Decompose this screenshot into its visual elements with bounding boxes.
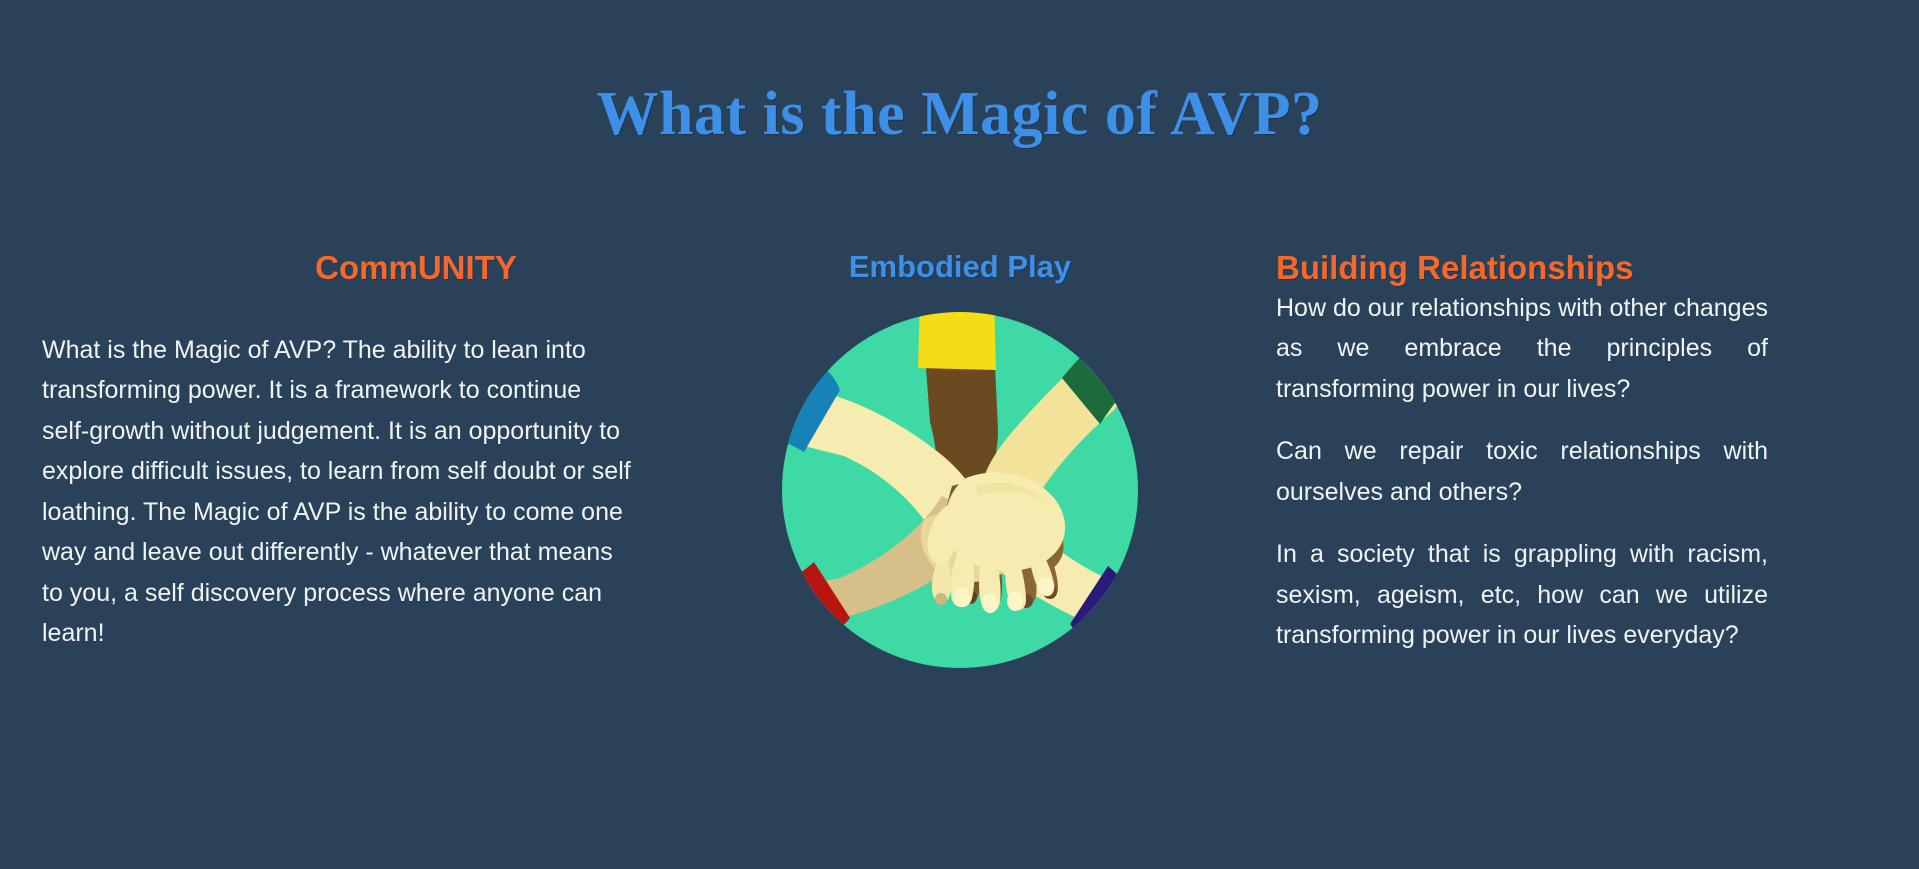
column-body-community: What is the Magic of AVP? The ability to…: [42, 330, 632, 654]
paragraph-repair-toxic: Can we repair toxic relationships with o…: [1276, 431, 1768, 512]
column-heading-community: CommUNITY: [42, 248, 742, 288]
yellow-sleeve: [918, 310, 996, 370]
page-title: What is the Magic of AVP?: [0, 80, 1919, 148]
column-body-building-relationships: How do our relationships with other chan…: [1276, 288, 1768, 656]
three-column-layout: CommUNITY What is the Magic of AVP? The …: [0, 248, 1919, 868]
column-heading-building-relationships: Building Relationships: [1276, 248, 1876, 288]
hands-together-circle-illustration: [770, 310, 1150, 670]
column-heading-embodied-play: Embodied Play: [770, 248, 1150, 285]
paragraph-society-grappling: In a society that is grappling with raci…: [1276, 534, 1768, 656]
column-building-relationships: Building Relationships How do our relati…: [1276, 248, 1876, 656]
slide-canvas: What is the Magic of AVP? CommUNITY What…: [0, 0, 1919, 869]
column-embodied-play: Embodied Play: [770, 248, 1150, 285]
paragraph-relationships-change: How do our relationships with other chan…: [1276, 288, 1768, 410]
column-community: CommUNITY What is the Magic of AVP? The …: [42, 248, 742, 654]
illustration-container: [770, 310, 1150, 670]
